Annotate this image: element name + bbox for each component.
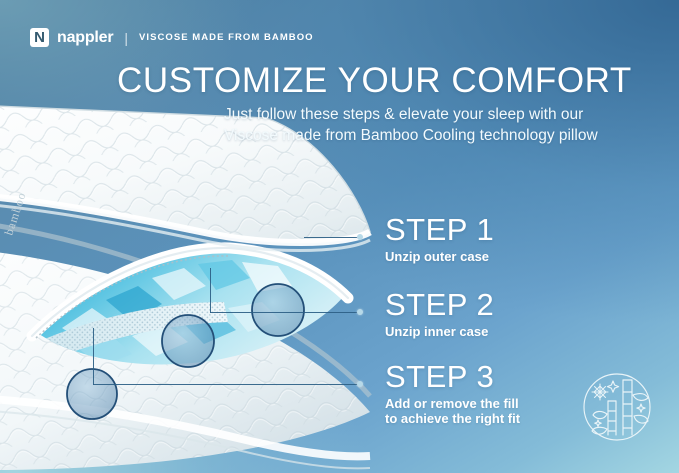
step-item-3: STEP 3 Add or remove the fill to achieve…: [385, 361, 520, 426]
brand-separator: |: [124, 30, 128, 46]
bamboo-cooling-badge-icon: [578, 368, 656, 446]
inner-case-zipper-marker: [162, 315, 214, 367]
step-item-1: STEP 1 Unzip outer case: [385, 214, 494, 264]
brand-tagline: VISCOSE MADE FROM BAMBOO: [139, 32, 314, 43]
connector-dot-step-3: [357, 381, 363, 387]
step-title: STEP 2: [385, 289, 494, 321]
connector-dot-step-1: [357, 234, 363, 240]
step-item-2: STEP 2 Unzip inner case: [385, 289, 494, 339]
page-subtitle: Just follow these steps & elevate your s…: [224, 105, 624, 146]
page-title: CUSTOMIZE YOUR COMFORT: [117, 61, 632, 101]
fill-adjust-marker: [67, 369, 117, 419]
nappler-logo-icon: N: [30, 28, 49, 47]
bamboo-badge-svg: [578, 368, 656, 446]
brand-name: nappler: [57, 29, 113, 47]
step-description: Unzip outer case: [385, 249, 494, 264]
promo-graphic: bamboo N nappler: [0, 0, 679, 473]
brand-header: N nappler | VISCOSE MADE FROM BAMBOO: [30, 28, 314, 47]
logo-letter: N: [34, 30, 45, 45]
connector-dot-step-2: [357, 309, 363, 315]
step-title: STEP 3: [385, 361, 520, 393]
pillow-markers: [0, 96, 436, 473]
step-title: STEP 1: [385, 214, 494, 246]
pillow-image: bamboo: [0, 96, 436, 473]
step-description: Unzip inner case: [385, 324, 494, 339]
step-description: Add or remove the fill to achieve the ri…: [385, 396, 520, 427]
outer-case-zipper-marker: [252, 284, 304, 336]
